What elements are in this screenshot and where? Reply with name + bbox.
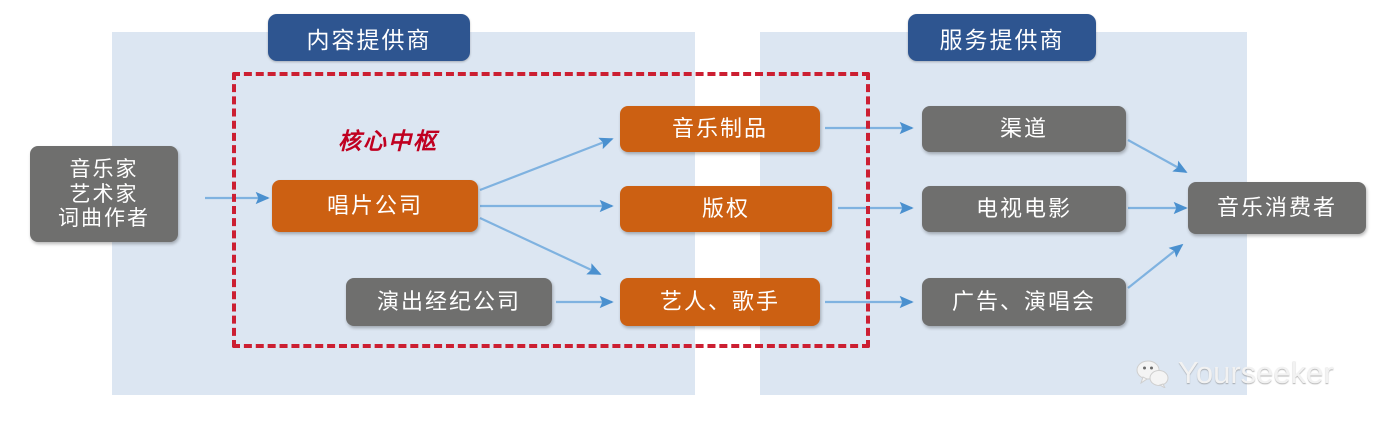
node-ads-concerts: 广告、演唱会	[922, 278, 1126, 326]
core-hub-label: 核心中枢	[338, 122, 438, 156]
creators-line-2: 艺术家	[70, 182, 139, 207]
header-content-provider: 内容提供商	[268, 14, 470, 61]
creators-line-1: 音乐家	[70, 157, 139, 182]
node-music-consumers: 音乐消费者	[1188, 182, 1366, 234]
watermark-text: Yourseeker	[1178, 355, 1334, 391]
header-service-provider: 服务提供商	[908, 14, 1096, 61]
creators-line-3: 词曲作者	[58, 206, 150, 231]
watermark: Yourseeker	[1136, 355, 1334, 391]
node-creators: 音乐家 艺术家 词曲作者	[30, 146, 178, 242]
node-artists-singers: 艺人、歌手	[620, 278, 820, 326]
wechat-icon	[1136, 358, 1170, 388]
music-industry-chain-diagram: 内容提供商 服务提供商 核心中枢 音乐家 艺术家 词曲作者 唱片公司 演出经纪公…	[0, 0, 1397, 427]
node-tv-film: 电视电影	[922, 186, 1126, 232]
node-channel: 渠道	[922, 106, 1126, 152]
node-copyright: 版权	[620, 186, 832, 232]
node-record-company: 唱片公司	[272, 180, 478, 232]
node-music-products: 音乐制品	[620, 106, 820, 152]
node-performance-agency: 演出经纪公司	[346, 278, 552, 326]
